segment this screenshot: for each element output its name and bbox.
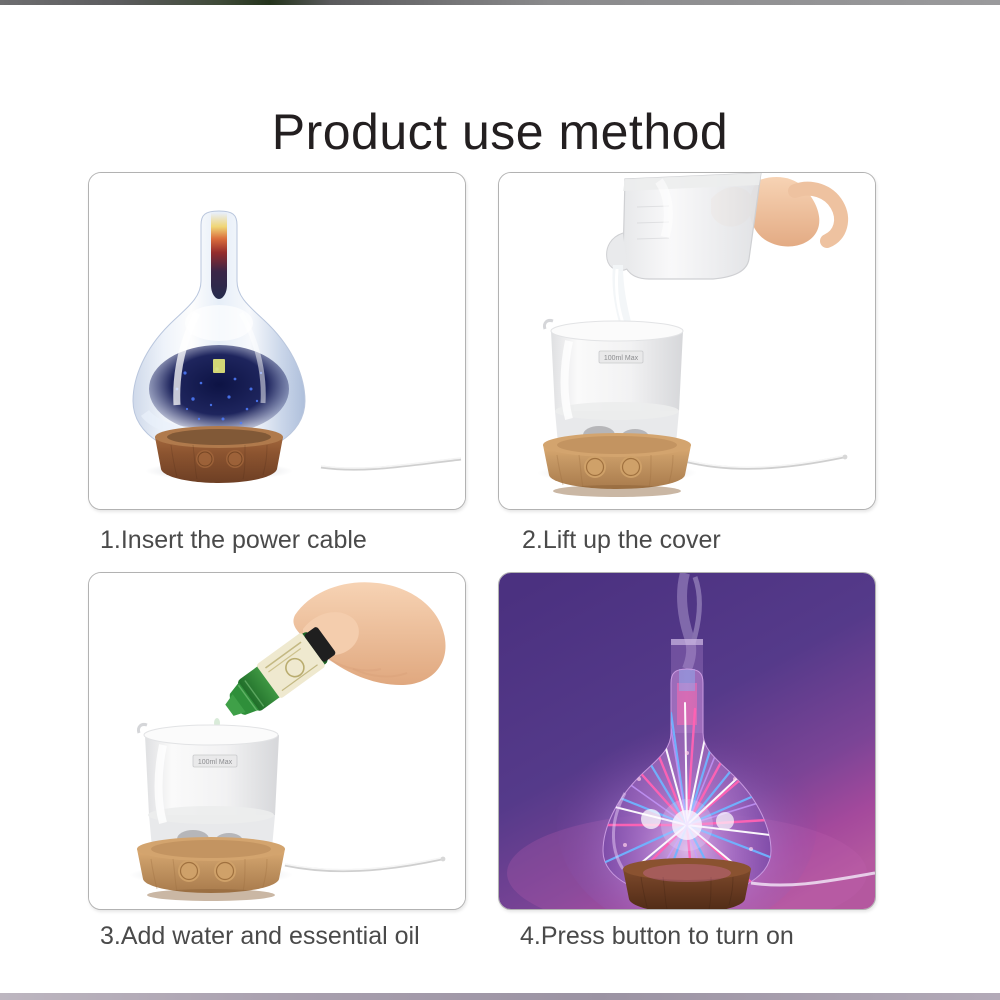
step-3-caption: 3.Add water and essential oil xyxy=(100,922,420,951)
step-4-image xyxy=(499,573,875,909)
tank-label-text: 100ml Max xyxy=(604,355,639,362)
measuring-cup xyxy=(607,173,761,279)
tank-label-text: 100ml Max xyxy=(198,759,233,766)
step-panel-1 xyxy=(88,172,466,510)
top-edge-strip xyxy=(0,0,1000,5)
step-panel-2: 100ml Max xyxy=(498,172,876,510)
step-1-image xyxy=(89,173,465,509)
step-3-image: 100ml Max xyxy=(89,573,465,909)
step-panel-4 xyxy=(498,572,876,910)
step-panel-3: 100ml Max xyxy=(88,572,466,910)
step-2-caption: 2.Lift up the cover xyxy=(522,526,721,555)
page-title: Product use method xyxy=(0,104,1000,160)
step-4-caption: 4.Press button to turn on xyxy=(520,922,794,951)
step-1-caption: 1.Insert the power cable xyxy=(100,526,367,555)
infographic-page: Product use method xyxy=(0,0,1000,1000)
step-2-image: 100ml Max xyxy=(499,173,875,509)
bottom-edge-strip xyxy=(0,993,1000,1000)
